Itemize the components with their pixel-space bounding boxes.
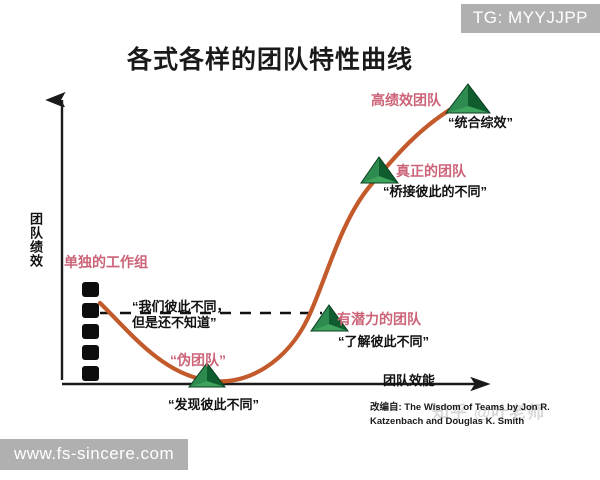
attribution-line2: Katzenbach and Douglas K. Smith bbox=[370, 415, 585, 429]
stage-quote-workgroup-line2: 但是还不知道” bbox=[132, 315, 230, 331]
stage-label-potential-team: 有潜力的团队 bbox=[337, 309, 421, 329]
stage-label-pseudo-team: “伪团队” bbox=[170, 350, 226, 370]
diagram-canvas: 各式各样的团队特性曲线 团队绩效 团队效能 单独的工作组 “我们彼此不同， 但是… bbox=[0, 0, 600, 480]
y-axis-title: 团队绩效 bbox=[24, 212, 42, 268]
stage-quote-workgroup-line1: “我们彼此不同， bbox=[132, 299, 230, 315]
top-right-watermark: TG: MYYJJPP bbox=[461, 4, 600, 33]
workgroup-marker-squares bbox=[82, 282, 99, 381]
stage-quote-potential-team: “了解彼此不同” bbox=[338, 331, 429, 350]
x-axis-title: 团队效能 bbox=[383, 370, 435, 389]
marker-triangle-high-performance-team bbox=[446, 84, 490, 113]
stage-quote-high-performance-team: “统合综效” bbox=[448, 112, 513, 131]
workgroup-square bbox=[82, 303, 99, 318]
workgroup-square bbox=[82, 324, 99, 339]
attribution: 改编自: The Wisdom of Teams by Jon R. Katze… bbox=[370, 401, 585, 429]
workgroup-square bbox=[82, 345, 99, 360]
stage-label-workgroup: 单独的工作组 bbox=[64, 252, 148, 272]
stage-quote-real-team: “桥接彼此的不同” bbox=[383, 181, 487, 200]
page-title: 各式各样的团队特性曲线 bbox=[0, 40, 540, 76]
stage-quote-workgroup: “我们彼此不同， 但是还不知道” bbox=[132, 299, 230, 332]
stage-label-real-team: 真正的团队 bbox=[396, 161, 466, 181]
attribution-line1: 改编自: The Wisdom of Teams by Jon R. bbox=[370, 401, 585, 415]
workgroup-square bbox=[82, 282, 99, 297]
bottom-left-watermark: www.fs-sincere.com bbox=[0, 439, 188, 470]
workgroup-square bbox=[82, 366, 99, 381]
stage-label-high-performance-team: 高绩效团队 bbox=[371, 90, 441, 110]
stage-quote-pseudo-team: “发现彼此不同” bbox=[168, 394, 259, 413]
